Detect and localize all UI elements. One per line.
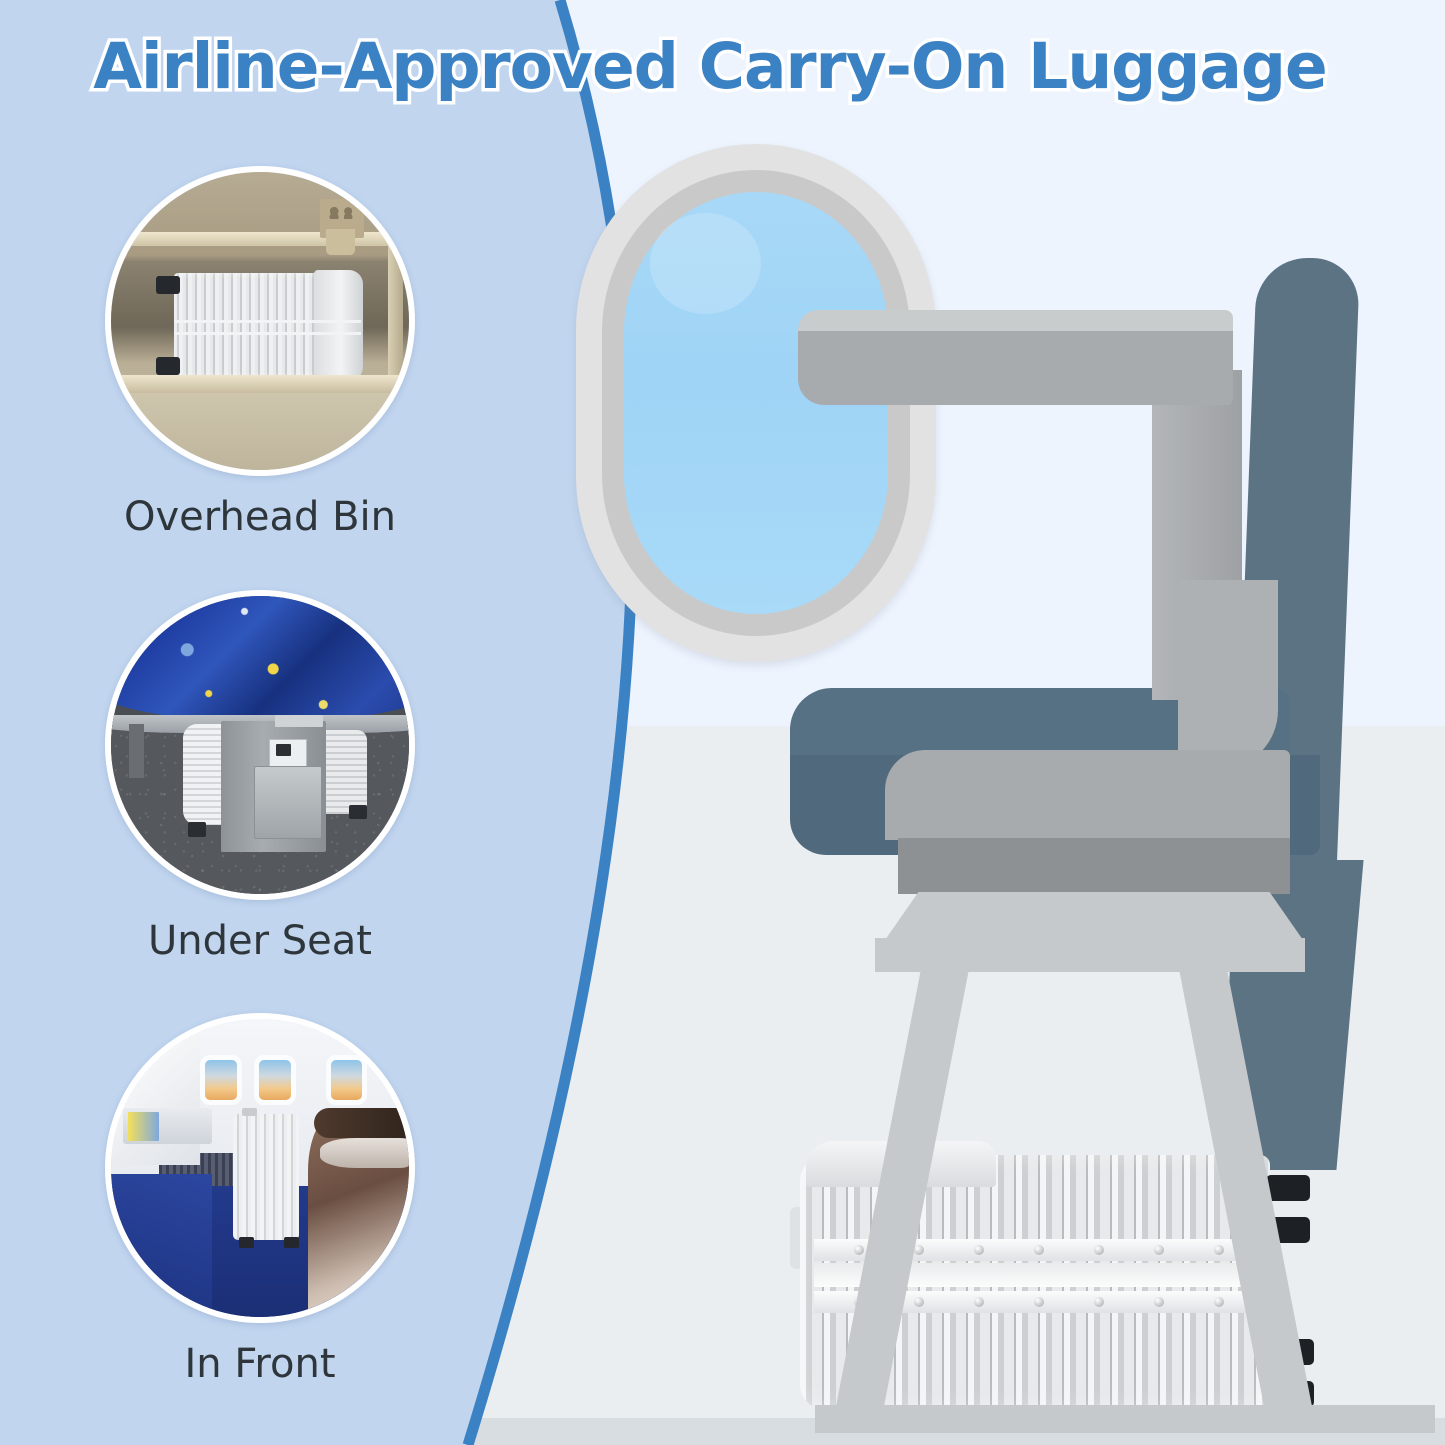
suitcase-wheel — [156, 276, 180, 294]
patterned-seat-cushion — [105, 590, 415, 721]
suitcase-band-bottom — [174, 332, 362, 335]
suitcase-wheel — [284, 1237, 299, 1249]
suitcase-wheel — [156, 357, 180, 375]
feature-label-in-front: In Front — [98, 1341, 422, 1387]
feature-card-overhead-bin: Overhead Bin — [98, 166, 422, 540]
page-title: Airline-Approved Carry-On Luggage — [0, 30, 1420, 103]
suitcase-nose — [314, 270, 363, 381]
seat-leg — [129, 724, 144, 778]
seat-leg-left — [831, 930, 976, 1430]
cabin-window-icon — [200, 1055, 242, 1106]
bin-side-wall — [388, 232, 403, 399]
suitcase-in-bin — [174, 273, 362, 377]
feature-card-under-seat: Under Seat — [98, 590, 422, 964]
feature-label-under-seat: Under Seat — [98, 918, 422, 964]
suitcase-wheel — [349, 805, 367, 820]
overhead-bin-scene — [111, 172, 409, 470]
cabin-window-icon — [326, 1055, 368, 1106]
bin-lip-upper — [105, 232, 415, 247]
cabin-window-icon — [254, 1055, 296, 1106]
suitcase-band-top — [174, 320, 362, 323]
photo-in-front — [105, 1013, 415, 1323]
standing-suitcase — [233, 1114, 299, 1239]
suitcase-wheel — [239, 1237, 254, 1249]
equipment-plate — [275, 715, 323, 727]
photo-under-seat — [105, 590, 415, 900]
neighbour-seat-tray — [320, 1138, 409, 1168]
bin-hinge-arm — [326, 229, 356, 256]
equipment-access-door — [254, 766, 322, 840]
seat-back-pocket — [123, 1108, 212, 1144]
cabin-carpet-left — [111, 1174, 212, 1317]
suitcase-right-side — [320, 730, 368, 813]
airplane-seat-legs — [780, 250, 1445, 1445]
suitcase-wheel — [188, 822, 206, 837]
feature-card-in-front: In Front — [98, 1013, 422, 1387]
infographic-canvas: Airline-Approved Carry-On Luggage Overhe… — [0, 0, 1445, 1445]
suitcase-handle — [242, 1108, 256, 1116]
front-seat-shell — [105, 1034, 200, 1165]
bin-exterior-panel — [105, 393, 415, 476]
bin-lip-lower — [105, 375, 415, 393]
neighbour-seat-armrest — [314, 1108, 415, 1138]
seat-leg-foot — [815, 1405, 1435, 1433]
feature-label-overhead-bin: Overhead Bin — [98, 494, 422, 540]
photo-overhead-bin — [105, 166, 415, 476]
under-seat-scene — [111, 596, 409, 894]
seat-leg-right — [1171, 930, 1316, 1430]
in-front-scene — [111, 1019, 409, 1317]
equipment-label — [269, 739, 307, 768]
